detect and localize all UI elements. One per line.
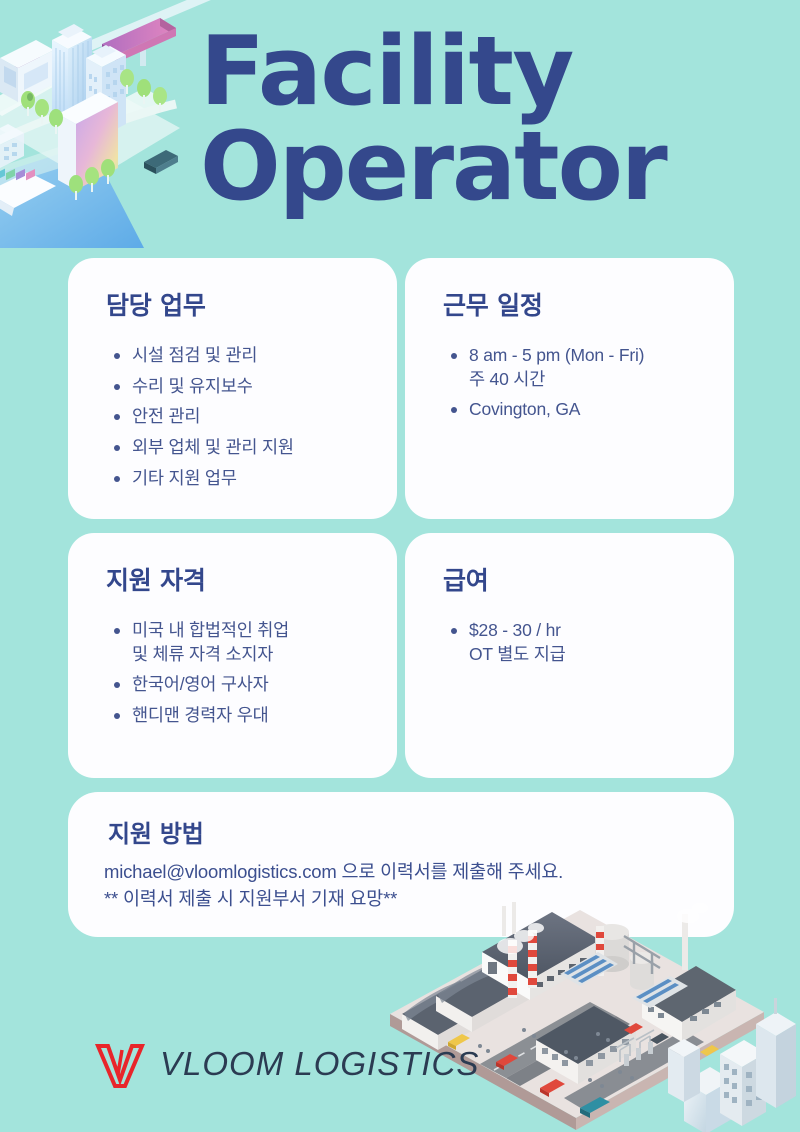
- list-item: 시설 점검 및 관리: [112, 344, 371, 368]
- card-title-schedule: 근무 일정: [443, 286, 708, 322]
- company-logo-text: VLOOM LOGISTICS: [160, 1045, 479, 1083]
- list-item: 한국어/영어 구사자: [112, 673, 371, 697]
- list-item-text: $28 - 30 / hr: [469, 620, 561, 640]
- list-item-text: 수리 및 유지보수: [132, 376, 253, 396]
- list-item: 외부 업체 및 관리 지원: [112, 436, 371, 460]
- list-item: 핸디맨 경력자 우대: [112, 704, 371, 728]
- card-row-2: 지원 자격 미국 내 합법적인 취업 및 체류 자격 소지자 한국어/영어 구사…: [68, 533, 734, 778]
- card-qualifications: 지원 자격 미국 내 합법적인 취업 및 체류 자격 소지자 한국어/영어 구사…: [68, 533, 397, 778]
- vloom-v-mark-icon: [92, 1036, 148, 1092]
- card-how-to-apply: 지원 방법 michael@vloomlogistics.com 으로 이력서를…: [68, 792, 734, 937]
- card-title-qualifications: 지원 자격: [106, 561, 371, 597]
- card-title-responsibilities: 담당 업무: [106, 286, 371, 322]
- apply-email-line[interactable]: michael@vloomlogistics.com 으로 이력서를 제출해 주…: [104, 859, 704, 886]
- list-item-text: 시설 점검 및 관리: [132, 345, 257, 365]
- list-item-text: 8 am - 5 pm (Mon - Fri): [469, 345, 644, 365]
- list-item: 기타 지원 업무: [112, 467, 371, 491]
- list-item-subtext: 및 체류 자격 소지자: [132, 643, 371, 667]
- list-item-subtext: 주 40 시간: [469, 368, 708, 392]
- card-responsibilities: 담당 업무 시설 점검 및 관리 수리 및 유지보수 안전 관리 외부 업체 및…: [68, 258, 397, 519]
- qualifications-list: 미국 내 합법적인 취업 및 체류 자격 소지자 한국어/영어 구사자 핸디맨 …: [94, 619, 371, 728]
- info-card-grid: 담당 업무 시설 점검 및 관리 수리 및 유지보수 안전 관리 외부 업체 및…: [68, 258, 734, 937]
- list-item-text: 미국 내 합법적인 취업: [132, 620, 289, 640]
- list-item: Covington, GA: [449, 398, 708, 422]
- card-title-how-to-apply: 지원 방법: [108, 814, 704, 849]
- list-item: $28 - 30 / hr OT 별도 지급: [449, 619, 708, 666]
- page-title: Facility Operator: [200, 26, 780, 214]
- list-item-text: 한국어/영어 구사자: [132, 674, 269, 694]
- title-line-1: Facility: [200, 26, 780, 119]
- company-logo: VLOOM LOGISTICS: [92, 1036, 479, 1092]
- list-item-text: 안전 관리: [132, 406, 200, 426]
- list-item-text: 기타 지원 업무: [132, 468, 237, 488]
- list-item-subtext: OT 별도 지급: [469, 643, 708, 667]
- responsibilities-list: 시설 점검 및 관리 수리 및 유지보수 안전 관리 외부 업체 및 관리 지원…: [94, 344, 371, 490]
- card-schedule: 근무 일정 8 am - 5 pm (Mon - Fri) 주 40 시간 Co…: [405, 258, 734, 519]
- job-posting-poster: Facility Operator 담당 업무 시설 점검 및 관리 수리 및 …: [0, 0, 800, 1132]
- list-item: 안전 관리: [112, 405, 371, 429]
- title-line-2: Operator: [200, 121, 780, 214]
- apply-instructions: michael@vloomlogistics.com 으로 이력서를 제출해 주…: [104, 859, 704, 913]
- list-item-text: Covington, GA: [469, 399, 580, 419]
- apply-note-line: ** 이력서 제출 시 지원부서 기재 요망**: [104, 886, 704, 913]
- list-item-text: 외부 업체 및 관리 지원: [132, 437, 294, 457]
- list-item: 미국 내 합법적인 취업 및 체류 자격 소지자: [112, 619, 371, 666]
- list-item: 수리 및 유지보수: [112, 375, 371, 399]
- card-title-salary: 급여: [443, 561, 708, 597]
- list-item-text: 핸디맨 경력자 우대: [132, 705, 269, 725]
- card-row-3: 지원 방법 michael@vloomlogistics.com 으로 이력서를…: [68, 792, 734, 937]
- schedule-list: 8 am - 5 pm (Mon - Fri) 주 40 시간 Covingto…: [431, 344, 708, 422]
- card-salary: 급여 $28 - 30 / hr OT 별도 지급: [405, 533, 734, 778]
- list-item: 8 am - 5 pm (Mon - Fri) 주 40 시간: [449, 344, 708, 391]
- salary-list: $28 - 30 / hr OT 별도 지급: [431, 619, 708, 666]
- card-row-1: 담당 업무 시설 점검 및 관리 수리 및 유지보수 안전 관리 외부 업체 및…: [68, 258, 734, 519]
